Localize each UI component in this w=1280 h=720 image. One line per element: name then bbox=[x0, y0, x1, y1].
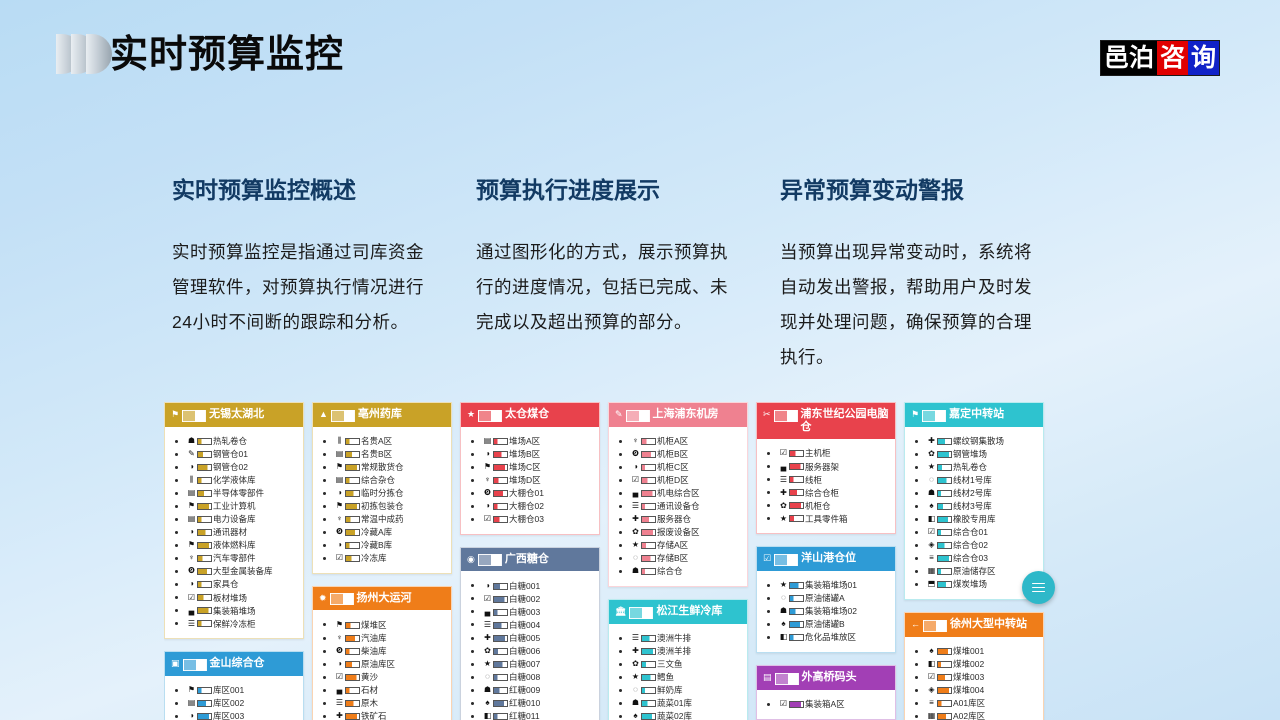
card-title: 无锡太湖北 bbox=[209, 408, 297, 421]
item-label: 原木 bbox=[361, 697, 378, 710]
list-item[interactable]: ⫼名贵A区 bbox=[335, 435, 447, 448]
item-label: 大棚仓02 bbox=[509, 500, 544, 513]
capacity-bar bbox=[937, 713, 952, 720]
column-body-text: 当预算出现异常变动时，系统将自动发出警报，帮助用户及时发现并处理问题，确保预算的… bbox=[780, 235, 1036, 375]
list-item[interactable]: ◑白糖001 bbox=[483, 579, 595, 592]
list-item[interactable]: ✿机柜仓 bbox=[779, 499, 891, 512]
capacity-bar bbox=[641, 674, 656, 681]
card-body: ▤堆场A区◑堆场B区⚑堆场C区♆堆场D区❾大棚仓01◑大棚仓02☑大棚仓03 bbox=[461, 427, 599, 534]
item-label: 线柜 bbox=[805, 474, 822, 487]
list-item[interactable]: ✿白糖006 bbox=[483, 645, 595, 658]
item-label: A01库区 bbox=[953, 697, 985, 710]
item-glyph-icon: ◧ bbox=[779, 631, 788, 644]
capacity-bar bbox=[493, 609, 508, 616]
item-label: 机电综合区 bbox=[657, 487, 700, 500]
list-item[interactable]: ❾大型金属装备库 bbox=[187, 565, 299, 578]
card-header[interactable]: ✂浦东世纪公园电脑仓 bbox=[757, 403, 895, 439]
item-label: 白糖007 bbox=[509, 658, 540, 671]
three-crescents-icon bbox=[56, 34, 118, 76]
item-glyph-icon: ◑ bbox=[631, 461, 640, 474]
list-item[interactable]: ★鳕鱼 bbox=[631, 671, 743, 684]
item-glyph-icon: ★ bbox=[631, 671, 640, 684]
feature-column-1: 实时预算监控概述实时预算监控是指通过司库资金管理软件，对预算执行情况进行24小时… bbox=[172, 175, 428, 375]
item-label: 鲜奶库 bbox=[657, 684, 683, 697]
item-label: 橡胶专用库 bbox=[953, 513, 996, 526]
capacity-bar bbox=[937, 568, 952, 575]
capacity-bar bbox=[789, 489, 804, 496]
status-badge bbox=[923, 620, 947, 632]
list-item[interactable]: ★工具零件箱 bbox=[779, 512, 891, 525]
capacity-bar bbox=[937, 542, 952, 549]
item-glyph-icon: ☗ bbox=[779, 605, 788, 618]
list-item[interactable]: ▤半导体零部件 bbox=[187, 487, 299, 500]
item-glyph-icon: ◌ bbox=[483, 671, 492, 684]
list-item[interactable]: ⫼化学液体库 bbox=[187, 474, 299, 487]
item-glyph-icon: ☑ bbox=[335, 671, 344, 684]
item-glyph-icon: ☑ bbox=[187, 592, 196, 605]
list-item[interactable]: ★存储A区 bbox=[631, 539, 743, 552]
list-item[interactable]: ✿三文鱼 bbox=[631, 658, 743, 671]
list-item[interactable]: ◧红糖011 bbox=[483, 710, 595, 720]
item-glyph-icon: ☑ bbox=[335, 552, 344, 565]
item-glyph-icon: ▄ bbox=[335, 684, 344, 697]
list-item[interactable]: ♠煤堆001 bbox=[927, 645, 1039, 658]
card-title: 松江生鲜冷库 bbox=[656, 605, 741, 618]
list-item[interactable]: ✚铁矿石 bbox=[335, 710, 447, 720]
item-label: 堆场A区 bbox=[509, 435, 540, 448]
item-label: 主机柜 bbox=[805, 447, 831, 460]
list-item[interactable]: ◑大棚仓02 bbox=[483, 500, 595, 513]
item-label: 煤堆004 bbox=[953, 684, 984, 697]
item-label: 三文鱼 bbox=[657, 658, 683, 671]
capacity-bar bbox=[345, 700, 360, 707]
list-item[interactable]: ☰线柜 bbox=[779, 473, 891, 486]
item-label: 冷藏B库 bbox=[361, 539, 392, 552]
item-label: 原油库区 bbox=[361, 658, 395, 671]
item-glyph-icon: ✚ bbox=[631, 513, 640, 526]
capacity-bar bbox=[345, 503, 360, 510]
list-item[interactable]: ◑机柜C区 bbox=[631, 461, 743, 474]
list-item[interactable]: ✿报废设备区 bbox=[631, 526, 743, 539]
list-item[interactable]: ✚澳洲羊排 bbox=[631, 645, 743, 658]
item-glyph-icon: ≡ bbox=[927, 552, 936, 565]
list-item[interactable]: ✿钢管堆场 bbox=[927, 448, 1039, 461]
item-glyph-icon: ☰ bbox=[483, 619, 492, 632]
list-item[interactable]: ▤堆场A区 bbox=[483, 435, 595, 448]
wrench-icon: ✎ bbox=[615, 408, 623, 421]
capacity-bar bbox=[493, 583, 508, 590]
list-item[interactable]: ◑钢管仓02 bbox=[187, 461, 299, 474]
list-item[interactable]: ☑机柜D区 bbox=[631, 474, 743, 487]
capacity-bar bbox=[197, 451, 212, 458]
capacity-bar bbox=[641, 529, 656, 536]
list-item[interactable]: ♠线材3号库 bbox=[927, 500, 1039, 513]
list-item[interactable]: ☗热轧卷仓 bbox=[187, 435, 299, 448]
capacity-bar bbox=[641, 464, 656, 471]
warehouse-item-list: ♠煤堆001◧煤堆002☑煤堆003◈煤堆004≡A01库区▦A02库区⬒A03… bbox=[913, 645, 1039, 720]
capacity-bar bbox=[641, 451, 656, 458]
list-item[interactable]: ◌白糖008 bbox=[483, 671, 595, 684]
list-item[interactable]: ▤库区002 bbox=[187, 697, 299, 710]
item-label: 机柜A区 bbox=[657, 435, 688, 448]
card-header[interactable]: ✹扬州大运河 bbox=[313, 587, 451, 611]
slide-header: 实时预算监控 邑泊 咨 询 bbox=[0, 0, 1280, 108]
warehouse-item-list: ☗热轧卷仓✎钢管仓01◑钢管仓02⫼化学液体库▤半导体零部件⚑工业计算机▤电力设… bbox=[173, 435, 299, 631]
card-title: 嘉定中转站 bbox=[949, 408, 1037, 421]
list-item[interactable]: ★白糖007 bbox=[483, 658, 595, 671]
list-item[interactable]: ▄石材 bbox=[335, 684, 447, 697]
item-glyph-icon: ♆ bbox=[335, 632, 344, 645]
item-label: 蔬菜02库 bbox=[657, 710, 692, 720]
item-label: 存储A区 bbox=[657, 539, 688, 552]
capacity-bar bbox=[493, 503, 508, 510]
item-glyph-icon: ◑ bbox=[483, 448, 492, 461]
item-glyph-icon: ☑ bbox=[779, 698, 788, 711]
warehouse-item-list: ⚑库区001▤库区002◑库区003⚑库区004 bbox=[173, 684, 299, 720]
list-item[interactable]: ♆汽油库 bbox=[335, 632, 447, 645]
capacity-bar bbox=[197, 568, 212, 575]
item-label: 家具仓 bbox=[213, 578, 239, 591]
item-label: 冷冻库 bbox=[361, 552, 387, 565]
card-title: 金山综合仓 bbox=[210, 657, 297, 670]
item-label: 常规散货仓 bbox=[361, 461, 404, 474]
list-item[interactable]: ▄集装箱堆场 bbox=[187, 604, 299, 617]
list-item[interactable]: ❾冷藏A库 bbox=[335, 526, 447, 539]
arrow-left-icon: ← bbox=[911, 618, 920, 631]
capacity-bar bbox=[641, 516, 656, 523]
capacity-bar bbox=[197, 581, 212, 588]
list-item[interactable]: ☑综合仓01 bbox=[927, 526, 1039, 539]
list-item[interactable]: ◧危化品堆放区 bbox=[779, 631, 891, 644]
capacity-bar bbox=[493, 516, 508, 523]
column-heading: 实时预算监控概述 bbox=[172, 175, 428, 205]
item-glyph-icon: ◧ bbox=[927, 658, 936, 671]
item-label: 汽车零部件 bbox=[213, 552, 256, 565]
list-item[interactable]: ⚑工业计算机 bbox=[187, 500, 299, 513]
grid-column-5: ✂浦东世纪公园电脑仓☑主机柜▄服务器架☰线柜✚综合仓柜✿机柜仓★工具零件箱☑洋山… bbox=[756, 402, 896, 720]
list-item[interactable]: ❾柴油库 bbox=[335, 645, 447, 658]
item-glyph-icon: ◧ bbox=[483, 710, 492, 720]
warehouse-card[interactable]: 🏛松江生鲜冷库☰澳洲牛排✚澳洲羊排✿三文鱼★鳕鱼◌鲜奶库☗蔬菜01库♠蔬菜02库… bbox=[608, 599, 748, 720]
warehouse-card[interactable]: ✹扬州大运河⚑煤堆区♆汽油库❾柴油库◑原油库区☑黄沙▄石材☰原木✚铁矿石✿螺纹钢… bbox=[312, 586, 452, 720]
item-label: 钢管堆场 bbox=[953, 448, 987, 461]
card-header[interactable]: ⚑嘉定中转站 bbox=[905, 403, 1043, 427]
item-label: 综合仓柜 bbox=[805, 487, 839, 500]
item-glyph-icon: ◌ bbox=[779, 592, 788, 605]
status-badge bbox=[478, 554, 502, 566]
capacity-bar bbox=[937, 529, 952, 536]
item-glyph-icon: ◑ bbox=[187, 710, 196, 720]
card-body: ◑白糖001☑白糖002▄白糖003☰白糖004✚白糖005✿白糖006★白糖0… bbox=[461, 571, 599, 720]
grid-column-4: ✎上海浦东机房♆机柜A区❾机柜B区◑机柜C区☑机柜D区▄机电综合区☰通讯设备仓✚… bbox=[608, 402, 748, 720]
card-body: ♠煤堆001◧煤堆002☑煤堆003◈煤堆004≡A01库区▦A02库区⬒A03… bbox=[905, 637, 1043, 720]
list-item[interactable]: ◈综合仓02 bbox=[927, 539, 1039, 552]
warehouse-item-list: ♆机柜A区❾机柜B区◑机柜C区☑机柜D区▄机电综合区☰通讯设备仓✚服务器仓✿报废… bbox=[617, 435, 743, 579]
item-glyph-icon: ♠ bbox=[779, 618, 788, 631]
list-item[interactable]: ☑板材堆场 bbox=[187, 591, 299, 604]
card-title: 扬州大运河 bbox=[357, 592, 445, 605]
item-glyph-icon: ☰ bbox=[631, 632, 640, 645]
list-item[interactable]: ☑主机柜 bbox=[779, 447, 891, 460]
list-item[interactable]: ▤综合杂仓 bbox=[335, 474, 447, 487]
column-heading: 异常预算变动警报 bbox=[780, 175, 1036, 205]
list-item[interactable]: ♆机柜A区 bbox=[631, 435, 743, 448]
list-item[interactable]: ▦原油储存区 bbox=[927, 565, 1039, 578]
capacity-bar bbox=[345, 438, 360, 445]
item-label: 集装箱堆场 bbox=[213, 605, 256, 618]
list-item[interactable]: ☑白糖002 bbox=[483, 592, 595, 605]
hamburger-menu-icon[interactable] bbox=[1022, 571, 1055, 604]
list-item[interactable]: ☰通讯设备仓 bbox=[631, 500, 743, 513]
item-label: 集装箱A区 bbox=[805, 698, 845, 711]
capacity-bar bbox=[493, 477, 508, 484]
list-item[interactable]: ☰白糖004 bbox=[483, 618, 595, 631]
capacity-bar bbox=[493, 451, 508, 458]
list-item[interactable]: ☑黄沙 bbox=[335, 671, 447, 684]
list-item[interactable]: ◑冷藏B库 bbox=[335, 539, 447, 552]
card-header[interactable]: 🏛松江生鲜冷库 bbox=[609, 600, 747, 624]
list-item[interactable]: ★热轧卷仓 bbox=[927, 461, 1039, 474]
list-item[interactable]: ✚白糖005 bbox=[483, 632, 595, 645]
list-item[interactable]: ☗线材2号库 bbox=[927, 487, 1039, 500]
capacity-bar bbox=[937, 661, 952, 668]
list-item[interactable]: ☰原木 bbox=[335, 697, 447, 710]
item-label: 通讯器材 bbox=[213, 526, 247, 539]
card-header[interactable]: ☑洋山港仓位 bbox=[757, 547, 895, 571]
warehouse-card[interactable]: ▲亳州药库⫼名贵A区▤名贵B区⚑常规散货仓▤综合杂仓◑临时分拣仓⚑初拣包装仓♆常… bbox=[312, 402, 452, 574]
item-label: 机柜仓 bbox=[805, 500, 831, 513]
card-body: ★集装箱堆场01◌原油储罐A☗集装箱堆场02♠原油储罐B◧危化品堆放区 bbox=[757, 571, 895, 652]
list-item[interactable]: ☰澳洲牛排 bbox=[631, 632, 743, 645]
capacity-bar bbox=[197, 516, 212, 523]
item-glyph-icon: ⚑ bbox=[483, 461, 492, 474]
item-label: 原油储罐B bbox=[805, 618, 845, 631]
item-glyph-icon: ⚑ bbox=[187, 500, 196, 513]
column-heading: 预算执行进度展示 bbox=[476, 175, 732, 205]
card-title: 广西糖仓 bbox=[505, 553, 593, 566]
capacity-bar bbox=[937, 674, 952, 681]
item-label: 工具零件箱 bbox=[805, 513, 848, 526]
item-label: 石材 bbox=[361, 684, 378, 697]
warehouse-card[interactable]: ←徐州大型中转站♠煤堆001◧煤堆002☑煤堆003◈煤堆004≡A01库区▦A… bbox=[904, 612, 1044, 720]
list-item[interactable]: ⚑库区001 bbox=[187, 684, 299, 697]
list-item[interactable]: ❾机柜B区 bbox=[631, 448, 743, 461]
capacity-bar bbox=[197, 477, 212, 484]
item-label: 柴油库 bbox=[361, 645, 387, 658]
list-item[interactable]: ☗综合仓 bbox=[631, 565, 743, 578]
list-item[interactable]: ◌原油储罐A bbox=[779, 592, 891, 605]
grid-column-2: ▲亳州药库⫼名贵A区▤名贵B区⚑常规散货仓▤综合杂仓◑临时分拣仓⚑初拣包装仓♆常… bbox=[312, 402, 452, 720]
card-header[interactable]: ★太仓煤仓 bbox=[461, 403, 599, 427]
item-label: 汽油库 bbox=[361, 632, 387, 645]
list-item[interactable]: ⚑初拣包装仓 bbox=[335, 500, 447, 513]
card-header[interactable]: ▤外高桥码头 bbox=[757, 666, 895, 690]
list-item[interactable]: ◑库区003 bbox=[187, 710, 299, 720]
list-item[interactable]: ▄服务器架 bbox=[779, 460, 891, 473]
item-glyph-icon: ▄ bbox=[483, 606, 492, 619]
list-item[interactable]: ◧煤堆002 bbox=[927, 658, 1039, 671]
capacity-bar bbox=[641, 635, 656, 642]
list-item[interactable]: ♠蔬菜02库 bbox=[631, 710, 743, 720]
capacity-bar bbox=[493, 700, 508, 707]
list-item[interactable]: ◌存储B区 bbox=[631, 552, 743, 565]
brand-logo: 邑泊 咨 询 bbox=[1100, 40, 1220, 76]
warehouse-card[interactable]: ✂浦东世纪公园电脑仓☑主机柜▄服务器架☰线柜✚综合仓柜✿机柜仓★工具零件箱 bbox=[756, 402, 896, 534]
list-item[interactable]: ▄机电综合区 bbox=[631, 487, 743, 500]
item-label: 堆场B区 bbox=[509, 448, 540, 461]
list-item[interactable]: ▄白糖003 bbox=[483, 605, 595, 618]
item-label: 蔬菜01库 bbox=[657, 697, 692, 710]
list-item[interactable]: ★集装箱堆场01 bbox=[779, 579, 891, 592]
list-item[interactable]: ◧橡胶专用库 bbox=[927, 513, 1039, 526]
warehouse-card[interactable]: ⚑无锡太湖北☗热轧卷仓✎钢管仓01◑钢管仓02⫼化学液体库▤半导体零部件⚑工业计… bbox=[164, 402, 304, 639]
item-glyph-icon: ☗ bbox=[927, 487, 936, 500]
list-item[interactable]: ▦A02库区 bbox=[927, 710, 1039, 720]
item-label: 白糖002 bbox=[509, 593, 540, 606]
item-glyph-icon: ☰ bbox=[631, 500, 640, 513]
item-glyph-icon: ⚑ bbox=[335, 500, 344, 513]
list-item[interactable]: ≡综合仓03 bbox=[927, 552, 1039, 565]
item-glyph-icon: ☑ bbox=[927, 526, 936, 539]
item-glyph-icon: ▄ bbox=[631, 487, 640, 500]
item-label: 名贵A区 bbox=[361, 435, 392, 448]
list-item[interactable]: ◌线材1号库 bbox=[927, 474, 1039, 487]
capacity-bar bbox=[789, 608, 804, 615]
list-item[interactable]: ♠红糖010 bbox=[483, 697, 595, 710]
capacity-bar bbox=[789, 502, 804, 509]
item-label: 红糖009 bbox=[509, 684, 540, 697]
warehouse-card[interactable]: ▣金山综合仓⚑库区001▤库区002◑库区003⚑库区004 bbox=[164, 651, 304, 720]
list-item[interactable]: ☑集装箱A区 bbox=[779, 698, 891, 711]
item-glyph-icon: ☰ bbox=[779, 474, 788, 487]
warehouse-card[interactable]: ☑洋山港仓位★集装箱堆场01◌原油储罐A☗集装箱堆场02♠原油储罐B◧危化品堆放… bbox=[756, 546, 896, 653]
capacity-bar bbox=[493, 713, 508, 720]
list-item[interactable]: ⚑堆场C区 bbox=[483, 461, 595, 474]
grid-column-6: ⚑嘉定中转站✚螺纹钢集散场✿钢管堆场★热轧卷仓◌线材1号库☗线材2号库♠线材3号… bbox=[904, 402, 1044, 720]
list-item[interactable]: ♠原油储罐B bbox=[779, 618, 891, 631]
list-item[interactable]: ✚螺纹钢集散场 bbox=[927, 435, 1039, 448]
circle-dot-icon: ◉ bbox=[467, 553, 475, 566]
list-item[interactable]: ❾大棚仓01 bbox=[483, 487, 595, 500]
status-badge bbox=[774, 554, 798, 566]
list-item[interactable]: ⚑煤堆区 bbox=[335, 618, 447, 631]
item-glyph-icon: ♆ bbox=[335, 513, 344, 526]
card-header[interactable]: ✎上海浦东机房 bbox=[609, 403, 747, 427]
list-item[interactable]: ◑通讯器材 bbox=[187, 526, 299, 539]
item-glyph-icon: ☰ bbox=[187, 618, 196, 631]
list-item[interactable]: ◌鲜奶库 bbox=[631, 684, 743, 697]
item-label: 服务器仓 bbox=[657, 513, 691, 526]
capacity-bar bbox=[197, 713, 212, 720]
capacity-bar bbox=[789, 476, 804, 483]
list-item[interactable]: ◑临时分拣仓 bbox=[335, 487, 447, 500]
card-header[interactable]: ▲亳州药库 bbox=[313, 403, 451, 427]
list-item[interactable]: ♆常温中成药 bbox=[335, 513, 447, 526]
warehouse-card[interactable]: ◉广西糖仓◑白糖001☑白糖002▄白糖003☰白糖004✚白糖005✿白糖00… bbox=[460, 547, 600, 720]
card-body: ☰澳洲牛排✚澳洲羊排✿三文鱼★鳕鱼◌鲜奶库☗蔬菜01库♠蔬菜02库◧活鱼养殖区☑… bbox=[609, 624, 747, 720]
item-label: 报废设备区 bbox=[657, 526, 700, 539]
card-header[interactable]: ←徐州大型中转站 bbox=[905, 613, 1043, 637]
list-item[interactable]: ◑家具仓 bbox=[187, 578, 299, 591]
card-header[interactable]: ⚑无锡太湖北 bbox=[165, 403, 303, 427]
capacity-bar bbox=[493, 635, 508, 642]
list-item[interactable]: ☗红糖009 bbox=[483, 684, 595, 697]
list-item[interactable]: ☑大棚仓03 bbox=[483, 513, 595, 526]
item-label: 常温中成药 bbox=[361, 513, 404, 526]
card-header[interactable]: ◉广西糖仓 bbox=[461, 548, 599, 572]
flag-icon: ⚑ bbox=[911, 408, 919, 421]
capacity-bar bbox=[937, 687, 952, 694]
warehouse-card[interactable]: ★太仓煤仓▤堆场A区◑堆场B区⚑堆场C区♆堆场D区❾大棚仓01◑大棚仓02☑大棚… bbox=[460, 402, 600, 535]
item-glyph-icon: ☑ bbox=[779, 447, 788, 460]
list-item[interactable]: ✚综合仓柜 bbox=[779, 486, 891, 499]
list-item[interactable]: ◑原油库区 bbox=[335, 658, 447, 671]
capacity-bar bbox=[197, 542, 212, 549]
item-label: 热轧卷仓 bbox=[953, 461, 987, 474]
item-glyph-icon: ♆ bbox=[483, 474, 492, 487]
item-label: 铁矿石 bbox=[361, 710, 387, 720]
item-label: 线材1号库 bbox=[953, 474, 992, 487]
item-glyph-icon: ♆ bbox=[187, 552, 196, 565]
card-title: 徐州大型中转站 bbox=[950, 618, 1037, 631]
item-label: 半导体零部件 bbox=[213, 487, 264, 500]
item-glyph-icon: ☑ bbox=[631, 474, 640, 487]
item-label: 煤堆003 bbox=[953, 671, 984, 684]
item-glyph-icon: ✚ bbox=[779, 487, 788, 500]
list-item[interactable]: ◈煤堆004 bbox=[927, 684, 1039, 697]
list-item[interactable]: ☑冷冻库 bbox=[335, 552, 447, 565]
list-item[interactable]: ✎钢管仓01 bbox=[187, 448, 299, 461]
list-item[interactable]: ▤名贵B区 bbox=[335, 448, 447, 461]
item-glyph-icon: ♆ bbox=[631, 435, 640, 448]
capacity-bar bbox=[641, 648, 656, 655]
list-item[interactable]: ☗集装箱堆场02 bbox=[779, 605, 891, 618]
capacity-bar bbox=[937, 503, 952, 510]
list-item[interactable]: ☑煤堆003 bbox=[927, 671, 1039, 684]
list-item[interactable]: ♆汽车零部件 bbox=[187, 552, 299, 565]
warehouse-card[interactable]: ▤外高桥码头☑集装箱A区 bbox=[756, 665, 896, 720]
list-item[interactable]: ☗蔬菜01库 bbox=[631, 697, 743, 710]
list-item[interactable]: ⚑液体燃料库 bbox=[187, 539, 299, 552]
warehouse-card[interactable]: ⚑嘉定中转站✚螺纹钢集散场✿钢管堆场★热轧卷仓◌线材1号库☗线材2号库♠线材3号… bbox=[904, 402, 1044, 600]
capacity-bar bbox=[641, 490, 656, 497]
capacity-bar bbox=[789, 582, 804, 589]
list-item[interactable]: ☰保鲜冷冻柜 bbox=[187, 617, 299, 630]
warehouse-item-list: ☑集装箱A区 bbox=[765, 698, 891, 711]
item-label: 红糖010 bbox=[509, 697, 540, 710]
list-item[interactable]: ♆堆场D区 bbox=[483, 474, 595, 487]
warehouse-card[interactable]: ✎上海浦东机房♆机柜A区❾机柜B区◑机柜C区☑机柜D区▄机电综合区☰通讯设备仓✚… bbox=[608, 402, 748, 587]
capacity-bar bbox=[345, 648, 360, 655]
feature-columns: 实时预算监控概述实时预算监控是指通过司库资金管理软件，对预算执行情况进行24小时… bbox=[172, 175, 1172, 375]
box-icon: ▣ bbox=[171, 657, 180, 670]
logo-text-accent-blue: 询 bbox=[1188, 41, 1219, 75]
item-glyph-icon: ▦ bbox=[927, 710, 936, 720]
list-item[interactable]: ≡A01库区 bbox=[927, 697, 1039, 710]
capacity-bar bbox=[345, 687, 360, 694]
capacity-bar bbox=[641, 438, 656, 445]
list-item[interactable]: ◑堆场B区 bbox=[483, 448, 595, 461]
item-glyph-icon: ▤ bbox=[335, 448, 344, 461]
list-item[interactable]: ⚑常规散货仓 bbox=[335, 461, 447, 474]
list-item[interactable]: ✚服务器仓 bbox=[631, 513, 743, 526]
grid-column-1: ⚑无锡太湖北☗热轧卷仓✎钢管仓01◑钢管仓02⫼化学液体库▤半导体零部件⚑工业计… bbox=[164, 402, 304, 720]
capacity-bar bbox=[345, 635, 360, 642]
list-item[interactable]: ▤电力设备库 bbox=[187, 513, 299, 526]
card-header[interactable]: ▣金山综合仓 bbox=[165, 652, 303, 676]
capacity-bar bbox=[197, 607, 212, 614]
capacity-bar bbox=[641, 687, 656, 694]
